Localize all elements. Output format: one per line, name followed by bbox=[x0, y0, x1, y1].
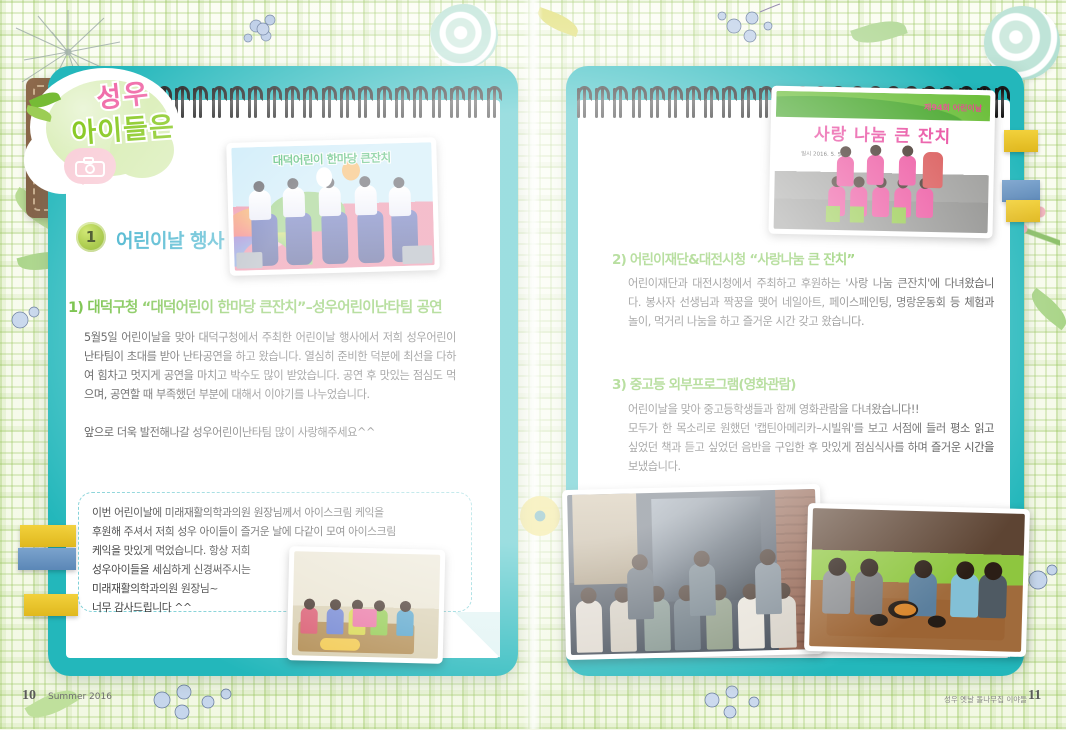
section-title: 어린이날 행사 bbox=[116, 226, 224, 253]
photo-nanta-performance: 대덕어린이 한마당 큰잔치 bbox=[226, 137, 440, 276]
note-line-4: 성우아이들을 세심하게 신경써주시는 bbox=[92, 560, 251, 579]
photo-ice-cream-party bbox=[287, 546, 446, 664]
sticky-tab-yellow-left-1[interactable] bbox=[20, 525, 76, 547]
magazine-spread: 성우 아이들은 1 어린이날 행사 대덕어린이 한마당 큰잔치 bbox=[0, 0, 1066, 729]
banner-badge: 제94회 어린이날 bbox=[924, 102, 982, 114]
subsection-3-body-line1: 어린이날을 맞아 중고등학생들과 함께 영화관람을 다녀왔습니다!! bbox=[628, 400, 994, 419]
flower-deco-icon-midtop bbox=[248, 14, 282, 48]
photo-love-sharing-banner: 제94회 어린이날 사랑 나눔 큰 잔치 일시 2016. 5. 5(목) bbox=[768, 86, 995, 239]
flower-deco-icon-bottomleft bbox=[136, 676, 246, 730]
sticky-tab-blue-right[interactable] bbox=[1002, 180, 1040, 202]
banner-title: 사랑 나눔 큰 잔치 bbox=[775, 119, 989, 148]
section-number-badge: 1 bbox=[76, 222, 106, 252]
note-line-6: 너무 감사드립니다 ^^ bbox=[92, 598, 192, 617]
flower-sprig-deco-icon bbox=[236, 8, 296, 52]
sticky-tab-yellow-left-2[interactable] bbox=[24, 594, 78, 616]
publication-logo: 성우 아이들은 bbox=[24, 52, 212, 192]
leaf-deco-icon-2 bbox=[850, 14, 908, 50]
leaf-deco-icon-5 bbox=[1025, 288, 1066, 331]
subsection-1-body-last: 앞으로 더욱 발전해나갈 성우어린이난타팀 많이 사랑해주세요^^ bbox=[84, 423, 456, 442]
subsection-1-heading: 1) 대덕구청 “대덕어린이 한마당 큰잔치”–성우어린이난타팀 공연 bbox=[68, 296, 442, 317]
flower-deco-icon-leftedge bbox=[2, 300, 46, 344]
sticky-tab-yellow-right-2[interactable] bbox=[1006, 200, 1040, 222]
flower-deco-icon-bottomright bbox=[690, 678, 786, 728]
left-page-number: 10 bbox=[22, 688, 36, 704]
note-line-3: 케익을 맛있게 먹었습니다. 항상 저희 bbox=[92, 541, 250, 560]
photo-caption-stage: 대덕어린이 한마당 큰잔치 bbox=[231, 148, 431, 170]
note-line-1: 이번 어린이날에 미래재활의학과의원 원장님께서 아이스크림 케익을 bbox=[92, 503, 384, 522]
page-gutter bbox=[523, 0, 543, 729]
photo-movie-theatre-group bbox=[562, 484, 824, 660]
rose-deco-icon-topmid bbox=[430, 4, 498, 68]
subsection-2-heading: 2) 어린이재단&대전시청 “사랑나눔 큰 잔치” bbox=[612, 248, 855, 268]
sticky-tab-blue-left[interactable] bbox=[18, 548, 76, 570]
subsection-3-heading: 3) 중고등 외부프로그램(영화관람) bbox=[612, 373, 796, 393]
note-line-5: 미래재활의학과의원 원장님~ bbox=[92, 579, 218, 598]
right-page-footer-label: 성우 옛날 돌나무집 이야들 bbox=[944, 694, 1027, 705]
subsection-1-body: 5월5일 어린이날을 맞아 대덕구청에서 주최한 어린이날 행사에서 저희 성우… bbox=[84, 328, 456, 404]
photo-restaurant-lunch bbox=[804, 503, 1030, 657]
camera-icon bbox=[64, 148, 116, 184]
flower-sprig-deco-icon-2 bbox=[706, 2, 786, 56]
subsection-2-body: 어린이재단과 대전시청에서 주최하고 후원하는 '사랑 나눔 큰잔치'에 다녀왔… bbox=[628, 274, 994, 331]
note-line-2: 후원해 주셔서 저희 성우 아이들이 즐거운 날에 다같이 모여 아이스크림 bbox=[92, 522, 396, 541]
right-page-number: 11 bbox=[1028, 688, 1041, 704]
subsection-3-body: 모두가 한 목소리로 원했던 '캡틴아메리카–시빌워'를 보고 서점에 들러 평… bbox=[628, 419, 994, 476]
sticky-tab-yellow-right-1[interactable] bbox=[1004, 130, 1038, 152]
left-page-footer-label: Summer 2016 bbox=[48, 692, 112, 702]
